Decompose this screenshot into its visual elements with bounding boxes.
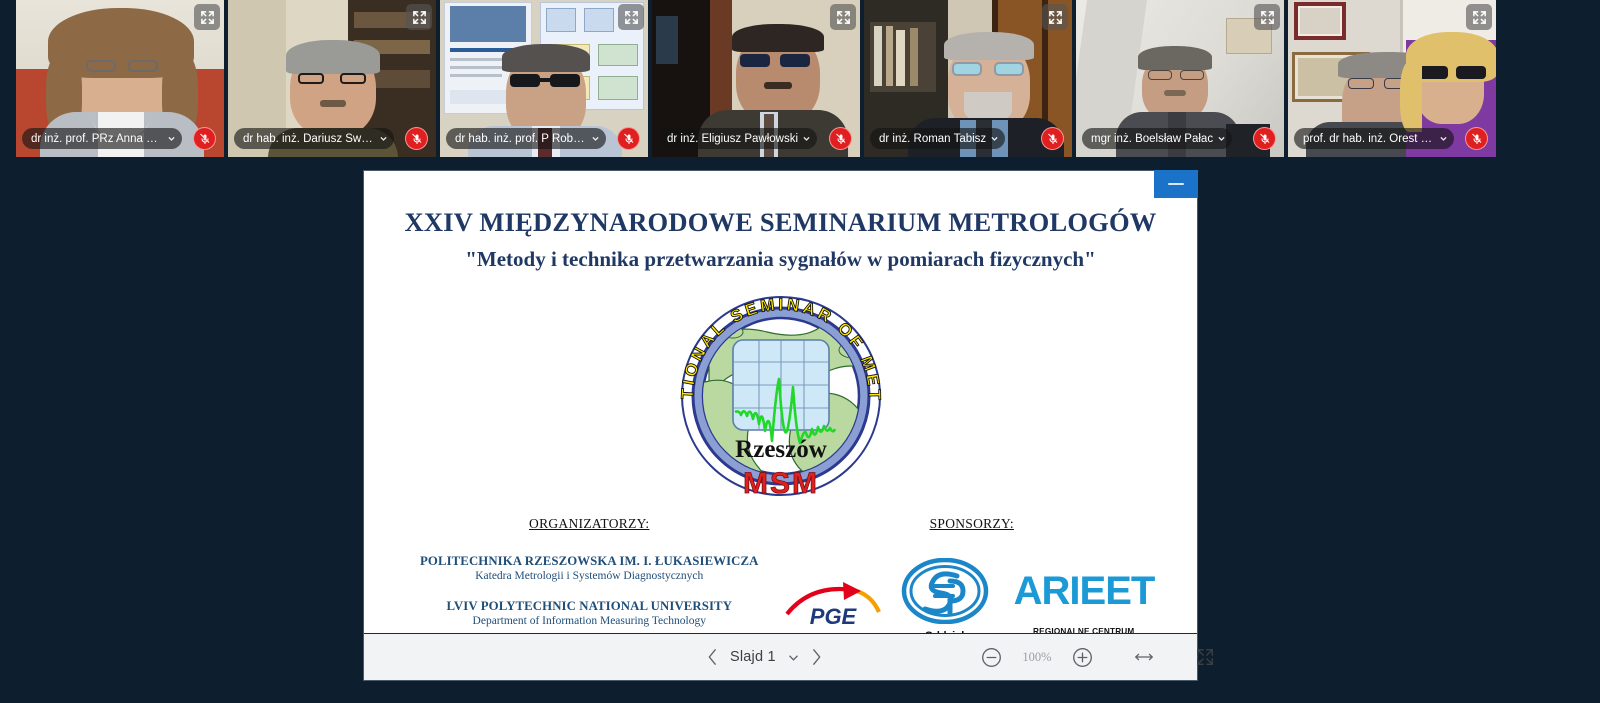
expand-icon[interactable] [1466,4,1492,30]
conference-app: dr inż. prof. PRz Anna Szlac… [0,0,1600,703]
sponsor-logo-text: ARIEET [1013,569,1154,613]
participant-name: mgr inż. Boelsław Pałac [1091,133,1213,145]
sponsor-sep: Oddział Rzeszów [901,558,989,633]
slide-subtitle: "Metody i technika przetwarzania sygnałó… [364,247,1197,272]
zoom-controls: 100% [981,647,1215,668]
chevron-down-icon[interactable] [379,134,388,143]
minimize-bar [1168,183,1184,186]
microphone-muted-icon [1465,127,1488,150]
expand-icon[interactable] [1042,4,1068,30]
slide-footer-columns: ORGANIZATORZY: POLITECHNIKA RZESZOWSKA I… [364,516,1197,633]
participant-name: dr hab. inż. Dariusz Świsuls… [243,133,375,145]
organizer-dept: Department of Information Measuring Tech… [398,615,781,627]
participant-name-pill[interactable]: mgr inż. Boelsław Pałac [1082,128,1232,149]
microphone-muted-icon [193,127,216,150]
sponsor-arieet: ARIEET REGIONALNE CENTRUM DOSKONAŁOŚCI P… [1005,568,1164,633]
participant-name-pill[interactable]: dr inż. prof. PRz Anna Szlac… [22,128,182,149]
slide-select-chevron-down-icon[interactable] [788,652,799,663]
participant-name: dr inż. Roman Tabisz [879,133,986,145]
slide-title: XXIV MIĘDZYNARODOWE SEMINARIUM METROLOGÓ… [364,207,1197,238]
chevron-left-icon[interactable] [707,648,718,666]
expand-icon[interactable] [1254,4,1280,30]
zoom-out-icon[interactable] [981,647,1002,668]
participant-name: dr inż. Eligiusz Pawłowski [667,133,798,145]
organizer-name: POLITECHNIKA RZESZOWSKA IM. I. ŁUKASIEWI… [398,554,781,569]
chevron-down-icon[interactable] [591,134,600,143]
logo-city: Rzeszów [735,436,827,463]
fit-width-icon[interactable] [1134,647,1154,667]
participant-name-pill[interactable]: dr inż. Eligiusz Pawłowski [658,128,817,149]
chevron-down-icon[interactable] [1217,134,1226,143]
video-tile[interactable]: dr hab. inż. Dariusz Świsuls… [228,0,436,157]
expand-icon[interactable] [406,4,432,30]
participant-name-pill[interactable]: prof. dr hab. inż. Orest Ivak… [1294,128,1454,149]
sponsor-logos: PGE PGE Dystrybucja S.A. [781,558,1164,633]
chevron-down-icon[interactable] [990,134,999,143]
video-tile[interactable]: prof. dr hab. inż. Orest Ivak… [1288,0,1496,157]
microphone-muted-icon [405,127,428,150]
slide-nav-group: Slajd 1 [707,648,822,666]
microphone-muted-icon [1041,127,1064,150]
logo-acronym: MSM [743,467,819,500]
sponsors-column: SPONSORZY: PGE PGE Dystrybucja S.A. [781,516,1164,633]
participant-name: dr hab. inż. prof. P Robert … [455,133,587,145]
organizers-column: ORGANIZATORZY: POLITECHNIKA RZESZOWSKA I… [398,516,781,633]
sponsor-pge: PGE PGE Dystrybucja S.A. [781,578,885,633]
video-tile[interactable]: dr inż. prof. PRz Anna Szlac… [16,0,224,157]
organizer-name: LVIV POLYTECHNIC NATIONAL UNIVERSITY [398,599,781,614]
microphone-muted-icon [829,127,852,150]
expand-icon[interactable] [830,4,856,30]
zoom-in-icon[interactable] [1072,647,1093,668]
slide-number-label: Slajd 1 [730,649,776,665]
chevron-down-icon[interactable] [1439,134,1448,143]
organizers-heading: ORGANIZATORZY: [398,516,781,532]
chevron-down-icon[interactable] [167,134,176,143]
video-tile[interactable]: dr inż. Roman Tabisz [864,0,1072,157]
sponsor-logo-text: PGE [809,604,857,629]
video-tile[interactable]: dr inż. Eligiusz Pawłowski [652,0,860,157]
zoom-level-label: 100% [1018,650,1056,665]
chevron-right-icon[interactable] [811,648,822,666]
participant-name: prof. dr hab. inż. Orest Ivak… [1303,133,1435,145]
participant-name: dr inż. prof. PRz Anna Szlac… [31,133,163,145]
video-tile[interactable]: mgr inż. Boelsław Pałac [1076,0,1284,157]
participant-name-pill[interactable]: dr hab. inż. Dariusz Świsuls… [234,128,394,149]
participant-name-pill[interactable]: dr inż. Roman Tabisz [870,128,1005,149]
participant-name-pill[interactable]: dr hab. inż. prof. P Robert … [446,128,606,149]
organizer-dept: Katedra Metrologii i Systemów Diagnostyc… [398,570,781,582]
msm-logo: INTERNATIONAL SEMINAR OF METROLOGY Rzesz… [364,278,1197,512]
chevron-down-icon[interactable] [802,134,811,143]
video-tile[interactable]: dr hab. inż. prof. P Robert … [440,0,648,157]
fullscreen-icon[interactable] [1195,647,1215,667]
screen-share-panel: XXIV MIĘDZYNARODOWE SEMINARIUM METROLOGÓ… [363,170,1198,681]
slide-surface[interactable]: XXIV MIĘDZYNARODOWE SEMINARIUM METROLOGÓ… [364,171,1197,633]
participant-video-strip: dr inż. prof. PRz Anna Szlac… [0,0,1600,163]
slide-toolbar: Slajd 1 100% [364,633,1197,680]
microphone-muted-icon [617,127,640,150]
microphone-muted-icon [1253,127,1276,150]
expand-icon[interactable] [194,4,220,30]
expand-icon[interactable] [618,4,644,30]
sponsors-heading: SPONSORZY: [781,516,1164,532]
minimize-icon[interactable] [1154,170,1198,198]
